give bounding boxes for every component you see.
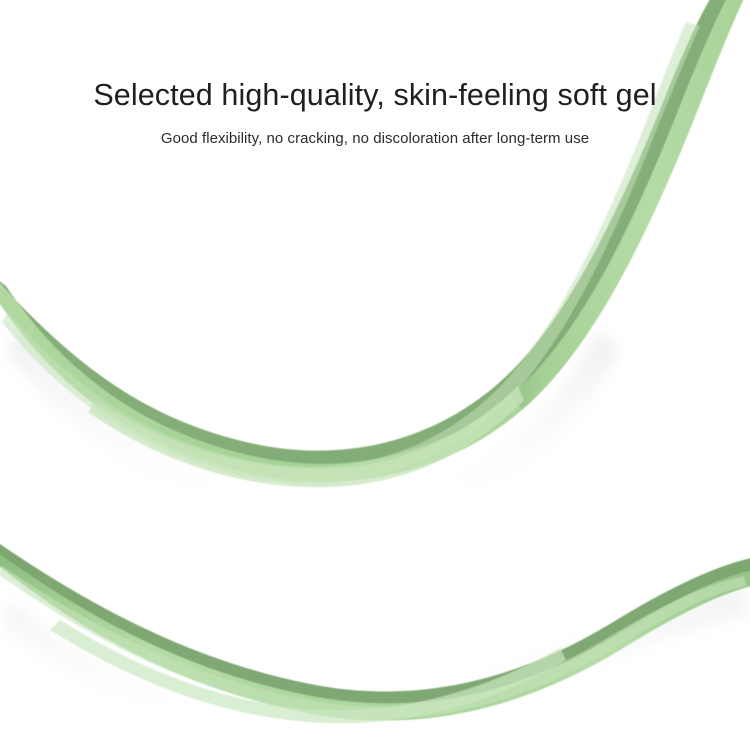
banner-canvas: Selected high-quality, skin-feeling soft…: [0, 0, 750, 750]
upper-cable-strand: [0, 0, 748, 487]
cable-illustration: [0, 0, 750, 750]
